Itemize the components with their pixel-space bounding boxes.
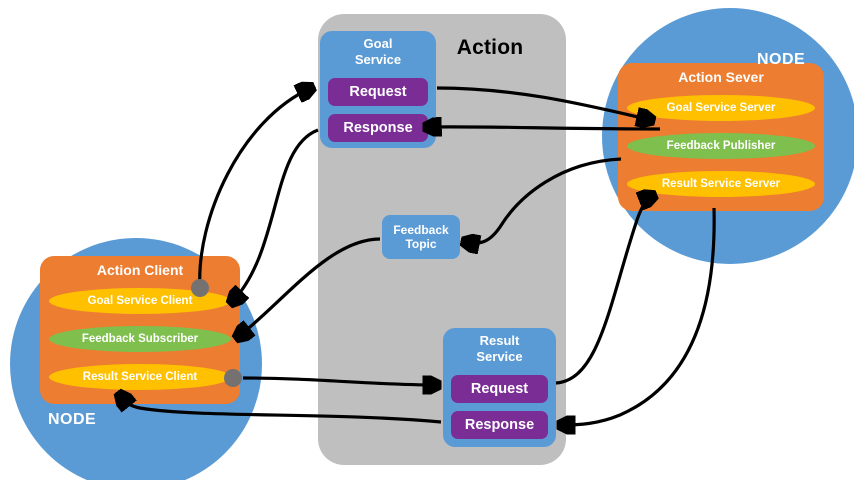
feedback-topic-title-line2: Topic [405, 237, 436, 251]
action-server-box: Action Sever Goal Service Server Feedbac… [618, 63, 824, 211]
action-client-title: Action Client [40, 262, 240, 278]
diagram-canvas: Action Action Client Goal Service Client… [0, 0, 854, 480]
goal-service-title-line1: Goal [364, 36, 393, 51]
goal-service-title: Goal Service [320, 36, 436, 68]
feedback-topic-box[interactable]: Feedback Topic [382, 215, 460, 259]
action-title: Action [430, 36, 550, 60]
result-service-box: Result Service Request Response [443, 328, 556, 447]
pill-result-service-server[interactable]: Result Service Server [627, 171, 815, 197]
goal-service-box: Goal Service Request Response [320, 31, 436, 148]
pill-goal-service-server[interactable]: Goal Service Server [627, 95, 815, 121]
pill-result-service-client[interactable]: Result Service Client [49, 364, 231, 390]
feedback-topic-title: Feedback Topic [393, 223, 448, 252]
result-service-response[interactable]: Response [451, 411, 548, 439]
connector-dot-result-client [224, 369, 242, 387]
goal-service-request[interactable]: Request [328, 78, 428, 106]
arrow-goalresponse-to-goalclient [232, 130, 318, 302]
feedback-topic-title-line1: Feedback [393, 223, 448, 237]
result-service-request[interactable]: Request [451, 375, 548, 403]
connector-dot-goal-client [191, 279, 209, 297]
goal-service-response[interactable]: Response [328, 114, 428, 142]
goal-service-title-line2: Service [355, 52, 401, 67]
pill-feedback-publisher[interactable]: Feedback Publisher [627, 133, 815, 159]
node-label-client: NODE [48, 411, 96, 429]
result-service-title-line1: Result [480, 333, 520, 348]
node-label-server: NODE [757, 51, 805, 69]
result-service-title-line2: Service [476, 349, 522, 364]
action-server-title: Action Sever [618, 69, 824, 85]
action-client-box: Action Client Goal Service Client Feedba… [40, 256, 240, 404]
result-service-title: Result Service [443, 333, 556, 365]
pill-feedback-subscriber[interactable]: Feedback Subscriber [49, 326, 231, 352]
